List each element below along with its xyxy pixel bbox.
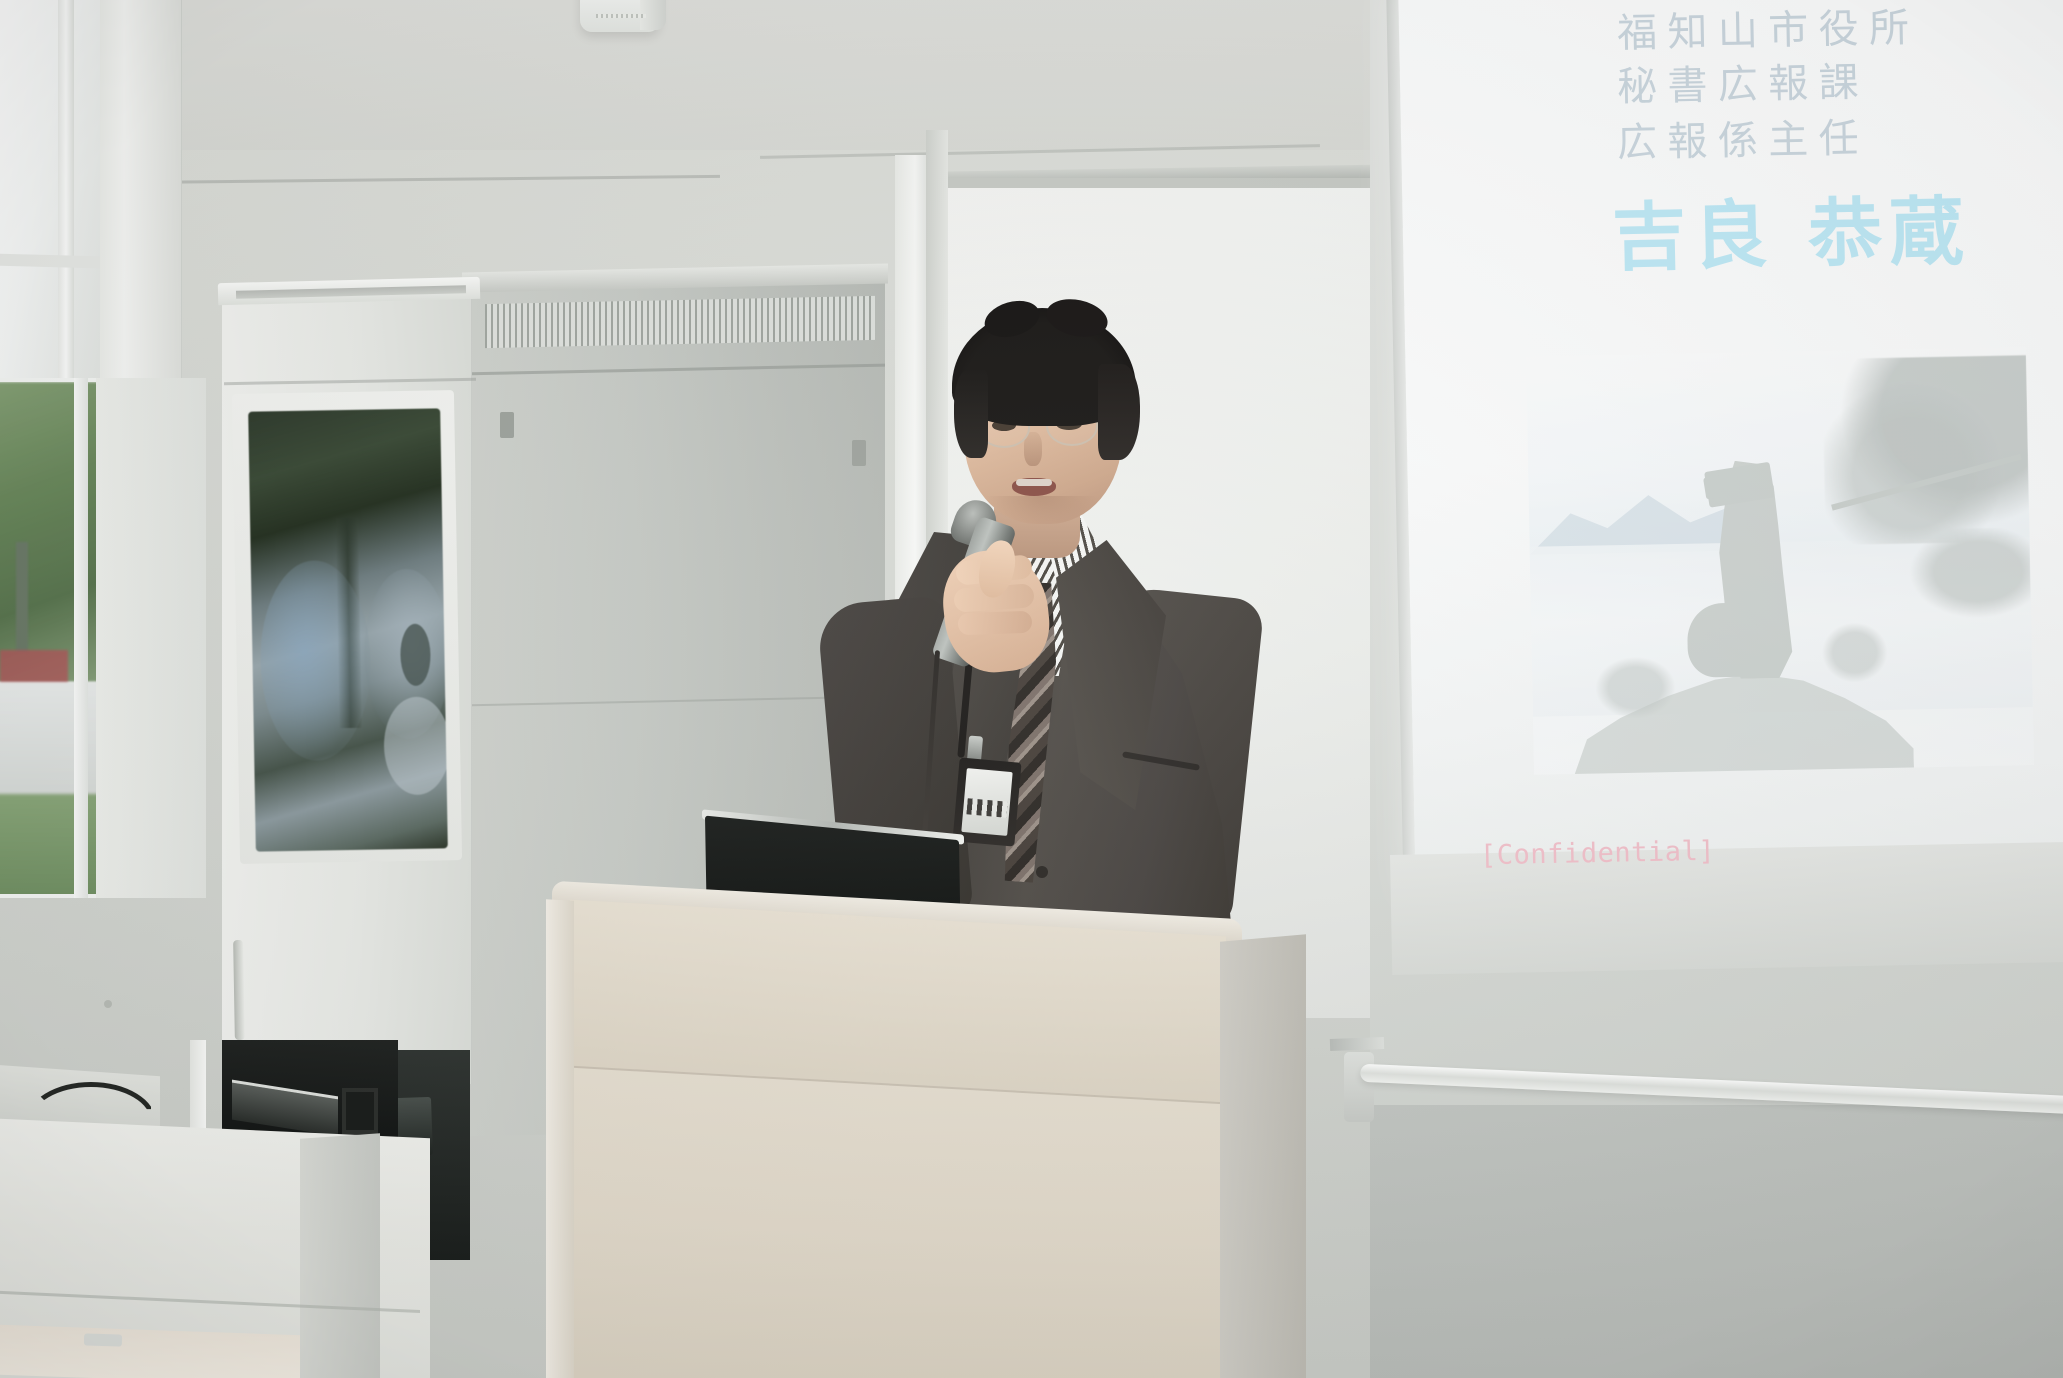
screen-mount-arm — [1330, 1037, 1384, 1051]
presenter-id-badge-strip — [966, 798, 1007, 817]
slide-photo-tree-lower — [1899, 527, 2031, 625]
cabinet-glass-panel — [248, 408, 448, 851]
cabinet-vent-grille — [485, 296, 875, 348]
slide-photo-bush-mid — [1819, 620, 1890, 685]
slide-photo-tree-canopy — [1822, 355, 2030, 545]
presentation-room-photo: 福知山市役所 秘書広報課 広報係主任 吉良 恭蔵 [Confidential] — [0, 0, 2063, 1378]
presenter-hair-side-left — [954, 370, 988, 458]
left-wall-panel — [96, 378, 206, 898]
glass-door-frame — [74, 378, 88, 898]
wall-screw-dot — [104, 1000, 112, 1008]
cabinet-door-handle[interactable] — [233, 940, 245, 1040]
left-window — [0, 0, 100, 390]
slide-photo-photographer-silhouette — [1526, 347, 2034, 775]
presenter-chin-shadow — [986, 496, 1096, 524]
slide-org-line-1: 福知山市役所 — [1616, 0, 1919, 59]
wall-below-screen — [1370, 1105, 2063, 1378]
presenter-jacket-button — [1036, 866, 1048, 878]
foreground-desk-surface — [0, 1325, 300, 1378]
slide-org-line-2: 秘書広報課 — [1616, 50, 1869, 113]
foreground-desk-side — [300, 1133, 380, 1378]
slide-photo-bush-left — [1592, 654, 1679, 722]
presenter-hair-side-right — [1098, 364, 1140, 460]
cabinet-lock-icon[interactable] — [500, 412, 514, 438]
slide-org-line-3: 広報係主任 — [1616, 106, 1869, 169]
glass-reflection-blob — [383, 696, 448, 795]
lectern-left-edge — [546, 899, 574, 1378]
ceiling-device-vent — [596, 14, 646, 18]
outdoor-tree-trunk — [16, 542, 28, 652]
lectern-side-panel — [1220, 934, 1306, 1378]
desk-clip — [84, 1333, 122, 1346]
presenter-teeth — [1016, 479, 1052, 486]
window-mullion — [58, 0, 74, 410]
slide-photo-person-knee — [1687, 602, 1758, 677]
presenter-finger-ring — [958, 611, 1033, 636]
slide-speaker-name: 吉良 恭蔵 — [1611, 172, 1972, 286]
desk-monitor-stand — [342, 1088, 378, 1134]
screen-mount-bracket — [1344, 1052, 1374, 1122]
lectern — [548, 900, 1268, 1378]
slide-confidential-label: [Confidential] — [1480, 836, 1716, 872]
